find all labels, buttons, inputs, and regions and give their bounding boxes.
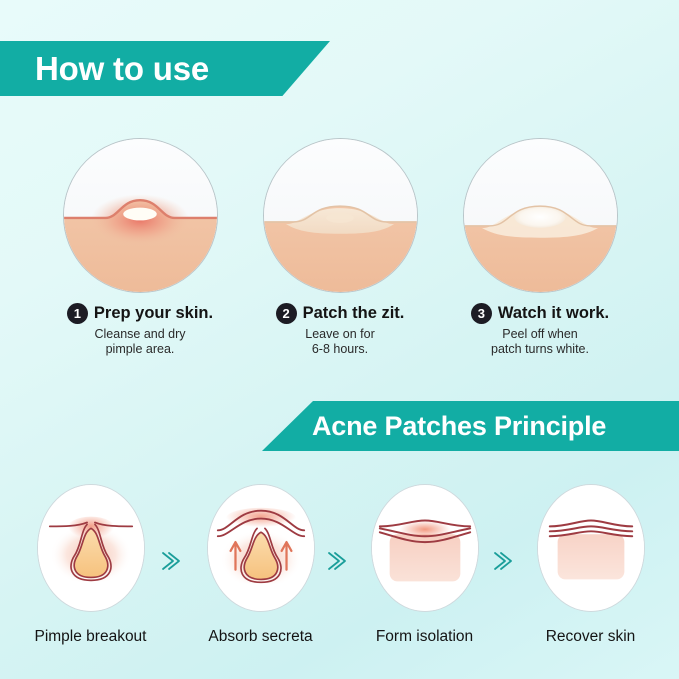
separator-chevron-1 bbox=[324, 548, 350, 574]
principle-item-3: Recover skin bbox=[508, 484, 673, 646]
banner-how-to-use-title: How to use bbox=[35, 50, 209, 88]
healed-skin-icon bbox=[538, 485, 644, 611]
infographic-page: How to use bbox=[0, 0, 679, 679]
flat-patch-barrier-icon bbox=[372, 485, 478, 611]
principle-3-label: Recover skin bbox=[508, 628, 673, 646]
double-chevron-right-icon bbox=[158, 548, 184, 574]
principle-1-label: Absorb secreta bbox=[178, 628, 343, 646]
step-1-subtitle: Cleanse and dry pimple area. bbox=[35, 327, 245, 357]
step-1-number-badge: 1 bbox=[67, 303, 88, 324]
step-item-1: 1 Prep your skin. Cleanse and dry pimple… bbox=[35, 138, 245, 357]
principle-item-1: Absorb secreta bbox=[178, 484, 343, 646]
step-3-subtitle: Peel off when patch turns white. bbox=[435, 327, 645, 357]
separator-chevron-0 bbox=[158, 548, 184, 574]
step-2-title: Patch the zit. bbox=[303, 304, 405, 323]
principle-row: Pimple breakout bbox=[0, 484, 679, 654]
principle-item-0: Pimple breakout bbox=[8, 484, 173, 646]
separator-chevron-2 bbox=[490, 548, 516, 574]
banner-acne-principle-title: Acne Patches Principle bbox=[312, 411, 606, 442]
patch-absorbing-arrows-icon bbox=[208, 485, 314, 611]
step-2-number-badge: 2 bbox=[276, 303, 297, 324]
principle-0-illustration bbox=[37, 484, 145, 612]
step-3-illustration bbox=[463, 138, 618, 293]
principle-2-label: Form isolation bbox=[342, 628, 507, 646]
principle-item-2: Form isolation bbox=[342, 484, 507, 646]
step-2-illustration bbox=[263, 138, 418, 293]
step-item-2: 2 Patch the zit. Leave on for 6-8 hours. bbox=[235, 138, 445, 357]
banner-acne-principle: Acne Patches Principle bbox=[262, 401, 679, 451]
steps-row: 1 Prep your skin. Cleanse and dry pimple… bbox=[0, 138, 679, 368]
double-chevron-right-icon bbox=[490, 548, 516, 574]
step-3-number-badge: 3 bbox=[471, 303, 492, 324]
banner-how-to-use: How to use bbox=[0, 41, 330, 96]
principle-3-illustration bbox=[537, 484, 645, 612]
step-item-3: 3 Watch it work. Peel off when patch tur… bbox=[435, 138, 645, 357]
step-3-title: Watch it work. bbox=[498, 304, 609, 323]
skin-with-open-pimple-icon bbox=[64, 139, 217, 292]
step-1-title: Prep your skin. bbox=[94, 304, 213, 323]
step-1-caption: 1 Prep your skin. bbox=[35, 303, 245, 324]
principle-0-label: Pimple breakout bbox=[8, 628, 173, 646]
principle-1-illustration bbox=[207, 484, 315, 612]
step-2-subtitle: Leave on for 6-8 hours. bbox=[235, 327, 445, 357]
skin-with-patch-applied-icon bbox=[264, 139, 417, 292]
principle-2-illustration bbox=[371, 484, 479, 612]
step-3-caption: 3 Watch it work. bbox=[435, 303, 645, 324]
step-2-caption: 2 Patch the zit. bbox=[235, 303, 445, 324]
double-chevron-right-icon bbox=[324, 548, 350, 574]
pore-with-sebum-icon bbox=[38, 485, 144, 611]
skin-with-white-patch-icon bbox=[464, 139, 617, 292]
step-1-illustration bbox=[63, 138, 218, 293]
